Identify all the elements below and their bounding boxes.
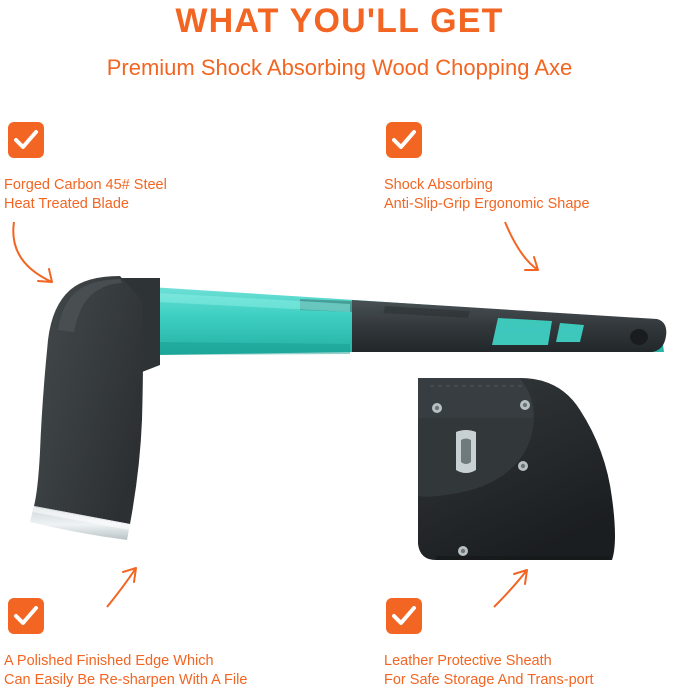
check-mark-icon (8, 598, 44, 634)
check-mark-icon (386, 598, 422, 634)
check-mark-icon (386, 122, 422, 158)
feature-line-1: Forged Carbon 45# Steel (4, 176, 167, 195)
feature-line-1: A Polished Finished Edge Which (4, 652, 247, 671)
feature-line-1: Leather Protective Sheath (384, 652, 594, 671)
infographic-canvas: WHAT YOU'LL GET Premium Shock Absorbing … (0, 0, 679, 695)
checkbox-blade-steel[interactable] (8, 122, 44, 158)
feature-line-2: Anti-Slip-Grip Ergonomic Shape (384, 195, 590, 214)
axe-head (30, 276, 160, 540)
feature-label-polished-edge: A Polished Finished Edge Which Can Easil… (4, 652, 247, 690)
feature-line-2: For Safe Storage And Trans-port (384, 671, 594, 690)
feature-label-leather-sheath: Leather Protective Sheath For Safe Stora… (384, 652, 594, 690)
checkbox-polished-edge[interactable] (8, 598, 44, 634)
checkbox-shock-absorbing-grip[interactable] (386, 122, 422, 158)
checkbox-leather-sheath[interactable] (386, 598, 422, 634)
feature-line-2: Heat Treated Blade (4, 195, 167, 214)
feature-label-shock-absorbing-grip: Shock Absorbing Anti-Slip-Grip Ergonomic… (384, 176, 590, 214)
blade-sheath (418, 378, 615, 560)
feature-line-2: Can Easily Be Re-sharpen With A File (4, 671, 247, 690)
feature-label-blade-steel: Forged Carbon 45# Steel Heat Treated Bla… (4, 176, 167, 214)
feature-line-1: Shock Absorbing (384, 176, 590, 195)
axe-handle (150, 287, 666, 355)
check-mark-icon (8, 122, 44, 158)
product-image (0, 0, 679, 695)
